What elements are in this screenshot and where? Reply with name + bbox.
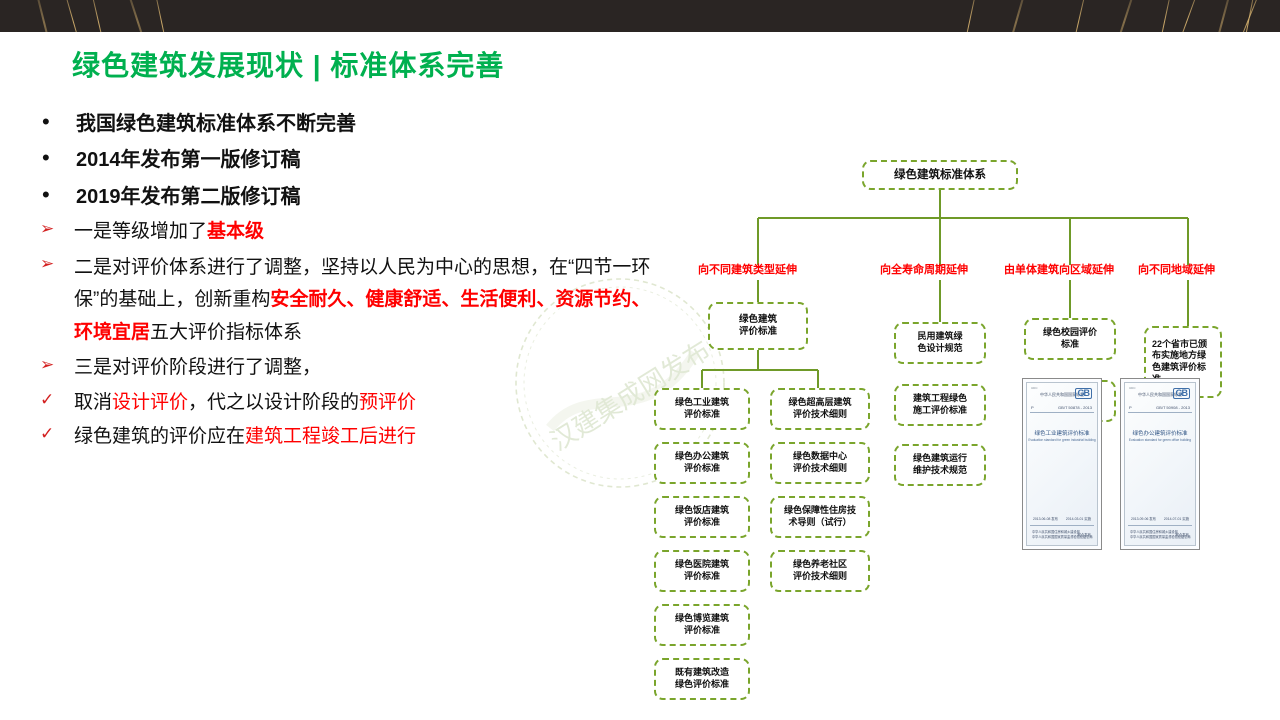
list-item: ➢ 三是对评价阶段进行了调整， bbox=[34, 353, 654, 384]
gb-logo-icon: GB bbox=[1173, 388, 1191, 399]
book-title-en: Evaluation standard for green office bui… bbox=[1125, 438, 1195, 442]
bullet-text-plain: 绿色建筑的评价应在 bbox=[74, 426, 245, 447]
banner-stripe bbox=[1065, 0, 1091, 32]
book-publisher-line-3: 联合发布 bbox=[1175, 532, 1189, 537]
content-text-column: • 我国绿色建筑标准体系不断完善 • 2014年发布第一版修订稿 • 2019年… bbox=[34, 108, 654, 457]
list-item: ✓ 绿色建筑的评价应在建筑工程竣工后进行 bbox=[34, 422, 654, 453]
banner-stripe bbox=[1167, 0, 1206, 32]
arrow-bullet-icon: ➢ bbox=[34, 217, 74, 242]
diagram-node-root: 绿色建筑标准体系 bbox=[862, 160, 1018, 190]
diagram-node-green-construction: 建筑工程绿色 施工评价标准 bbox=[894, 384, 986, 426]
diagram-node-affordable-housing: 绿色保障性住房技 术导则（试行） bbox=[770, 496, 870, 538]
bullet-dot-icon: • bbox=[34, 144, 76, 172]
diagram-node-civil-design: 民用建筑绿 色设计规范 bbox=[894, 322, 986, 364]
branch-label-locality: 向不同地域延伸 bbox=[1138, 261, 1215, 277]
diagram-node-supertall: 绿色超高层建筑 评价技术细则 bbox=[770, 388, 870, 430]
book-number: GB/T 50878 - 2013 bbox=[1058, 405, 1092, 410]
bullet-text: 取消设计评价，代之以设计阶段的预评价 bbox=[74, 388, 654, 419]
arrow-bullet-icon: ➢ bbox=[34, 353, 74, 378]
bullet-dot-icon: • bbox=[34, 108, 76, 136]
bullet-text-highlight: 设计评价 bbox=[112, 392, 188, 413]
book-category: P bbox=[1031, 405, 1034, 410]
book-issue-date: 2013-06-08 发布 bbox=[1033, 516, 1058, 521]
check-bullet-icon: ✓ bbox=[34, 388, 74, 413]
book-number: GB/T 50908 - 2013 bbox=[1156, 405, 1190, 410]
bullet-text-plain-mid: ，代之以设计阶段的 bbox=[188, 392, 359, 413]
bullet-dot-icon: • bbox=[34, 181, 76, 209]
bullet-text-plain: 取消 bbox=[74, 392, 112, 413]
list-item: ✓ 取消设计评价，代之以设计阶段的预评价 bbox=[34, 388, 654, 419]
diagram-node-green-campus: 绿色校园评价 标准 bbox=[1024, 318, 1116, 360]
diagram-node-green-building-standard: 绿色建筑 评价标准 bbox=[708, 302, 808, 350]
branch-label-lifecycle: 向全寿命周期延伸 bbox=[880, 261, 968, 277]
bullet-text-highlight: 基本级 bbox=[207, 221, 264, 242]
branch-label-region: 由单体建筑向区域延伸 bbox=[1004, 261, 1114, 277]
diagram-node-retrofit: 既有建筑改造 绿色评价标准 bbox=[654, 658, 750, 700]
bullet-text-plain: 一是等级增加了 bbox=[74, 221, 207, 242]
book-publisher-line-3: 联合发布 bbox=[1077, 532, 1091, 537]
diagram-node-office: 绿色办公建筑 评价标准 bbox=[654, 442, 750, 484]
book-issue-date: 2013-09-06 发布 bbox=[1131, 516, 1156, 521]
bullet-text-highlight: 建筑工程竣工后进行 bbox=[245, 426, 416, 447]
banner-stripe bbox=[1106, 0, 1142, 32]
standards-system-diagram: 绿色建筑标准体系 向不同建筑类型延伸 向全寿命周期延伸 由单体建筑向区域延伸 向… bbox=[640, 130, 1280, 600]
banner-stripe bbox=[30, 0, 59, 32]
bullet-text: 我国绿色建筑标准体系不断完善 bbox=[76, 108, 654, 140]
book-effect-date: 2014-03-01 实施 bbox=[1066, 516, 1091, 521]
banner-stripe bbox=[120, 0, 156, 32]
banner-stripe bbox=[150, 0, 174, 32]
banner-stripe bbox=[86, 0, 112, 32]
book-category: P bbox=[1129, 405, 1132, 410]
banner-stripe bbox=[1207, 0, 1237, 32]
list-item: • 2019年发布第二版修订稿 bbox=[34, 181, 654, 213]
book-divider-2 bbox=[1128, 525, 1192, 526]
bullet-text: 2014年发布第一版修订稿 bbox=[76, 144, 654, 176]
book-title-cn: 绿色工业建筑评价标准 bbox=[1027, 429, 1097, 437]
book-effect-date: 2014-07-01 实施 bbox=[1164, 516, 1189, 521]
bullet-text: 2019年发布第二版修订稿 bbox=[76, 181, 654, 213]
book-inner: UDC 中华人民共和国国家标准 GB P GB/T 50908 - 2013 绿… bbox=[1124, 382, 1196, 546]
book-ucd: UDC bbox=[1129, 386, 1136, 390]
bullet-text: 三是对评价阶段进行了调整， bbox=[74, 353, 654, 384]
diagram-node-industrial: 绿色工业建筑 评价标准 bbox=[654, 388, 750, 430]
book-divider-2 bbox=[1030, 525, 1094, 526]
gb-logo-icon: GB bbox=[1075, 388, 1093, 399]
book-title-en: Evaluation standard for green industrial… bbox=[1027, 438, 1097, 442]
list-item: • 2014年发布第一版修订稿 bbox=[34, 144, 654, 176]
check-bullet-icon: ✓ bbox=[34, 422, 74, 447]
banner-stripe bbox=[1000, 0, 1032, 32]
bullet-text: 二是对评价体系进行了调整，坚持以人民为中心的思想，在“四节一环保”的基础上，创新… bbox=[74, 252, 654, 349]
list-item: ➢ 一是等级增加了基本级 bbox=[34, 217, 654, 248]
banner-stripe bbox=[957, 0, 981, 32]
book-divider bbox=[1128, 412, 1192, 413]
book-divider bbox=[1030, 412, 1094, 413]
arrow-bullet-icon: ➢ bbox=[34, 252, 74, 277]
branch-label-building-types: 向不同建筑类型延伸 bbox=[698, 261, 797, 277]
bullet-text-plain-tail: 五大评价指标体系 bbox=[150, 322, 302, 343]
bullet-text: 绿色建筑的评价应在建筑工程竣工后进行 bbox=[74, 422, 654, 453]
book-title-cn: 绿色办公建筑评价标准 bbox=[1125, 429, 1195, 437]
book-inner: UDC 中华人民共和国国家标准 GB P GB/T 50878 - 2013 绿… bbox=[1026, 382, 1098, 546]
banner-stripe bbox=[1152, 0, 1176, 32]
diagram-node-operation-maintenance: 绿色建筑运行 维护技术规范 bbox=[894, 444, 986, 486]
book-cover-office-standard: UDC 中华人民共和国国家标准 GB P GB/T 50908 - 2013 绿… bbox=[1120, 378, 1200, 550]
book-cover-industrial-standard: UDC 中华人民共和国国家标准 GB P GB/T 50878 - 2013 绿… bbox=[1022, 378, 1102, 550]
page-title: 绿色建筑发展现状 | 标准体系完善 bbox=[72, 44, 504, 84]
diagram-node-hospital: 绿色医院建筑 评价标准 bbox=[654, 550, 750, 592]
list-item: ➢ 二是对评价体系进行了调整，坚持以人民为中心的思想，在“四节一环保”的基础上，… bbox=[34, 252, 654, 349]
banner-stripe bbox=[58, 0, 89, 32]
diagram-node-datacenter: 绿色数据中心 评价技术细则 bbox=[770, 442, 870, 484]
diagram-node-exhibition: 绿色博览建筑 评价标准 bbox=[654, 604, 750, 646]
book-ucd: UDC bbox=[1031, 386, 1038, 390]
list-item: • 我国绿色建筑标准体系不断完善 bbox=[34, 108, 654, 140]
bullet-text-highlight-2: 预评价 bbox=[359, 392, 416, 413]
diagram-node-senior-community: 绿色养老社区 评价技术细则 bbox=[770, 550, 870, 592]
diagram-node-hotel: 绿色饭店建筑 评价标准 bbox=[654, 496, 750, 538]
bullet-text: 一是等级增加了基本级 bbox=[74, 217, 654, 248]
top-decorative-banner bbox=[0, 0, 1280, 32]
